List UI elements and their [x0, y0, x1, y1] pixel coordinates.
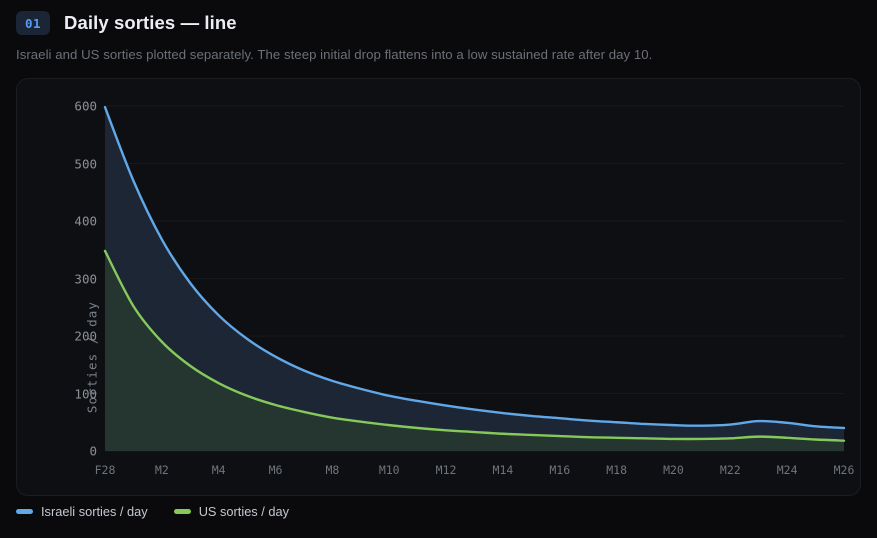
chart-card: 0100200300400500600 F28M2M4M6M8M10M12M14… — [16, 78, 861, 496]
legend-swatch-icon — [174, 509, 191, 514]
x-tick-label: M10 — [379, 463, 400, 477]
x-tick-label: M24 — [777, 463, 798, 477]
legend-item-israeli[interactable]: Israeli sorties / day — [16, 504, 148, 519]
x-tick-label: M18 — [606, 463, 627, 477]
chart-page: 01 Daily sorties — line Israeli and US s… — [0, 0, 877, 538]
x-tick-label: M8 — [325, 463, 339, 477]
y-tick-label: 500 — [51, 156, 97, 171]
x-tick-label: M12 — [436, 463, 457, 477]
plot-area[interactable]: 0100200300400500600 F28M2M4M6M8M10M12M14… — [17, 79, 860, 495]
legend-label: Israeli sorties / day — [41, 504, 148, 519]
x-tick-label: M16 — [549, 463, 570, 477]
x-tick-label: M14 — [493, 463, 514, 477]
legend-swatch-icon — [16, 509, 33, 514]
x-tick-label: M22 — [720, 463, 741, 477]
x-tick-label: M2 — [155, 463, 169, 477]
page-title: Daily sorties — line — [64, 12, 237, 34]
y-axis-label-holder: Sorties / day — [63, 184, 77, 496]
x-tick-label: M6 — [269, 463, 283, 477]
legend-item-us[interactable]: US sorties / day — [174, 504, 289, 519]
line-chart-svg[interactable] — [17, 79, 861, 496]
card-header: 01 Daily sorties — line Israeli and US s… — [16, 8, 861, 62]
x-tick-label: F28 — [95, 463, 116, 477]
y-axis-label: Sorties / day — [85, 300, 100, 412]
y-tick-label: 600 — [51, 99, 97, 114]
x-tick-label: M20 — [663, 463, 684, 477]
chart-legend: Israeli sorties / dayUS sorties / day — [16, 504, 289, 519]
title-row: 01 Daily sorties — line — [16, 8, 861, 38]
x-tick-label: M4 — [212, 463, 226, 477]
page-subtitle: Israeli and US sorties plotted separatel… — [16, 47, 861, 62]
x-tick-label: M26 — [834, 463, 855, 477]
index-badge: 01 — [16, 11, 50, 35]
legend-label: US sorties / day — [199, 504, 289, 519]
